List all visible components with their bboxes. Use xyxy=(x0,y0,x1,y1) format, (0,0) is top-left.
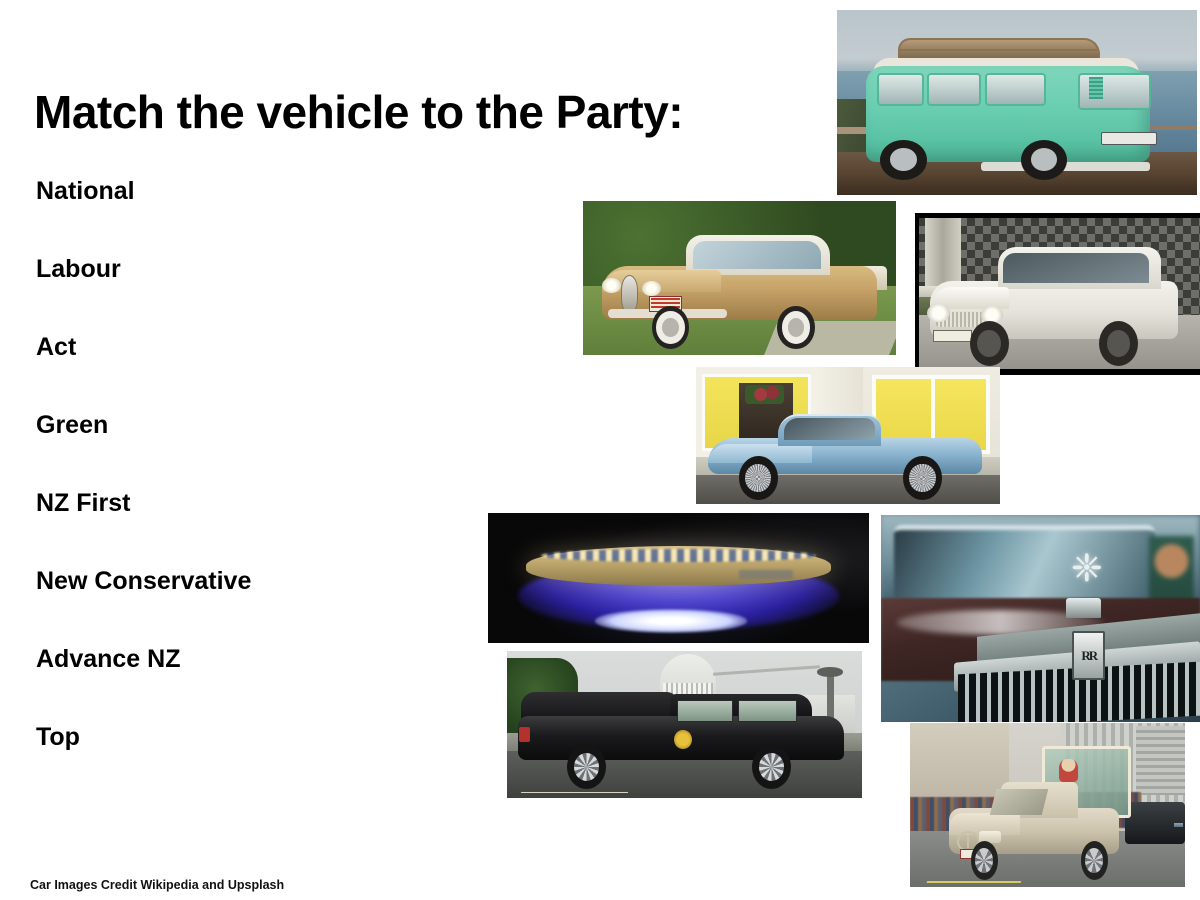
trabant-front-wheel xyxy=(970,321,1009,366)
edsel-front-wheel xyxy=(652,306,690,349)
photo-ufo-flying-saucer xyxy=(488,513,869,643)
photo-edsel-sedan xyxy=(583,201,896,355)
hearse-tail-light xyxy=(519,727,530,742)
party-item-top: Top xyxy=(36,722,466,800)
trabant-headlight-left xyxy=(927,304,949,322)
party-item-advance-nz: Advance NZ xyxy=(36,644,466,722)
party-list: National Labour Act Green NZ First New C… xyxy=(36,176,466,800)
jaguar-hanging-basket xyxy=(745,385,785,404)
van-window-mid xyxy=(927,73,981,107)
ufo-hull-panel xyxy=(739,570,792,579)
hearse-rear-window xyxy=(738,700,797,723)
van-window-front xyxy=(877,73,924,107)
rolls-royce-rr-badge: RR xyxy=(1072,631,1105,681)
spirit-of-ecstasy-icon: ❈ xyxy=(1066,550,1107,602)
ufo-core-light xyxy=(595,609,747,632)
escort-vehicle xyxy=(1125,802,1186,845)
hearse-front-window xyxy=(677,700,732,723)
van-roof-rack-bar xyxy=(900,49,1098,51)
photo-cadillac-hearse xyxy=(507,651,862,798)
popemobile-far-building xyxy=(1136,726,1186,795)
trabant-windows xyxy=(1003,253,1149,283)
party-item-labour: Labour xyxy=(36,254,466,332)
van-front-wheel xyxy=(880,140,927,181)
jaguar-windows xyxy=(784,418,875,440)
party-item-act: Act xyxy=(36,332,466,410)
party-item-new-conservative: New Conservative xyxy=(36,566,466,644)
hearse-road-marking xyxy=(521,792,628,793)
party-item-nz-first: NZ First xyxy=(36,488,466,566)
escort-vehicle-window xyxy=(1174,823,1184,827)
photo-trabant-estate xyxy=(915,213,1200,375)
page-title: Match the vehicle to the Party: xyxy=(34,88,683,136)
photo-jaguar-e-type xyxy=(696,367,1000,504)
presidential-seal-icon xyxy=(674,730,692,749)
van-air-vent xyxy=(1089,77,1103,99)
popemobile-rear-wheel xyxy=(1081,841,1109,880)
hearse-front-wheel xyxy=(752,745,791,789)
party-item-national: National xyxy=(36,176,466,254)
photo-vw-camper-van xyxy=(837,10,1197,195)
van-window-rear xyxy=(985,73,1047,107)
edsel-headlight-left xyxy=(602,278,621,293)
jaguar-front-wheel xyxy=(739,456,779,500)
image-credit: Car Images Credit Wikipedia and Upsplash xyxy=(30,878,284,892)
rolls-royce-windscreen xyxy=(894,525,1156,602)
slide-canvas: Match the vehicle to the Party: National… xyxy=(0,0,1200,900)
trabant-frame-inner xyxy=(919,218,1200,369)
popemobile-front-wheel xyxy=(971,841,999,880)
trabant-license-plate xyxy=(933,330,972,343)
popemobile-road-marking xyxy=(926,881,1020,883)
trabant-rear-wheel xyxy=(1099,321,1138,366)
edsel-windows xyxy=(693,241,821,269)
jaguar-rear-wheel xyxy=(903,456,943,500)
van-license-plate xyxy=(1101,132,1157,145)
pope-figure xyxy=(1059,759,1078,782)
party-item-green: Green xyxy=(36,410,466,488)
photo-popemobile xyxy=(910,723,1185,887)
popemobile-windshield xyxy=(989,789,1048,815)
photo-rolls-royce-ornament: RR ❈ xyxy=(881,515,1200,722)
edsel-rear-wheel xyxy=(777,306,815,349)
